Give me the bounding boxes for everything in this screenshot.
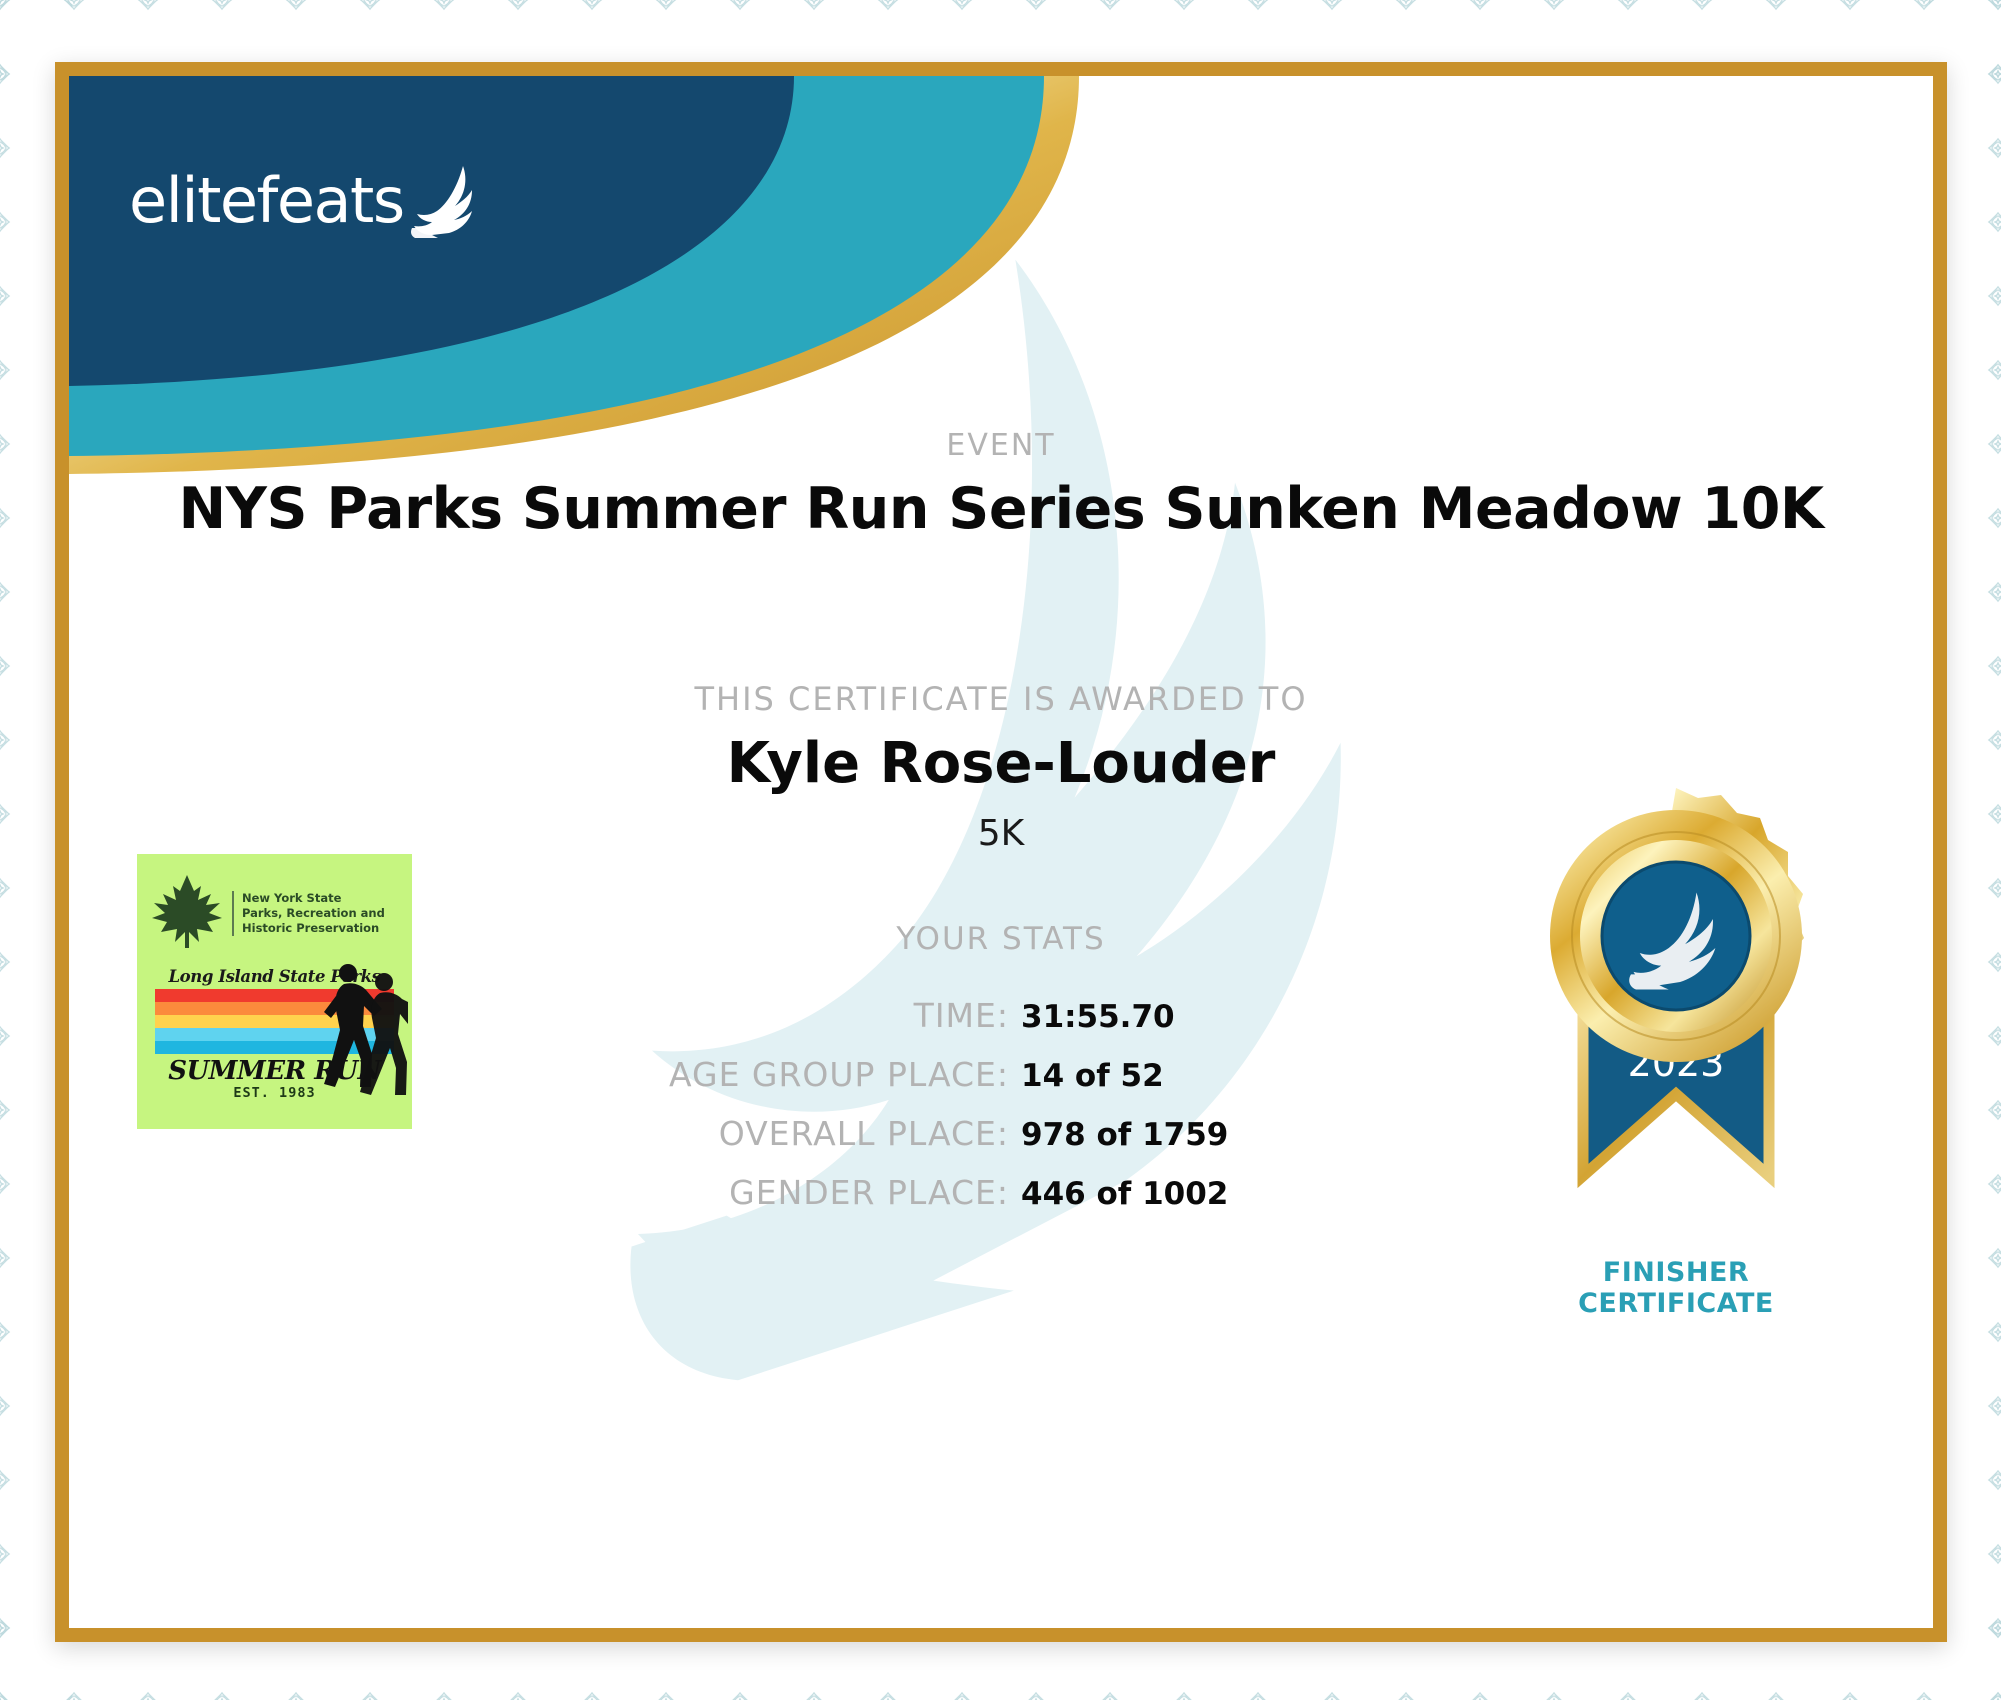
stat-key: AGE GROUP PLACE: bbox=[521, 1055, 1021, 1094]
stat-value: 31:55.70 bbox=[1021, 999, 1481, 1035]
finisher-caption-line-2: CERTIFICATE bbox=[1511, 1288, 1841, 1319]
agency-line-1: New York State bbox=[242, 891, 385, 906]
stat-key: GENDER PLACE: bbox=[521, 1173, 1021, 1212]
event-title: NYS Parks Summer Run Series Sunken Meado… bbox=[69, 476, 1933, 542]
runners-silhouette-icon bbox=[322, 956, 408, 1111]
finisher-caption: FINISHER CERTIFICATE bbox=[1511, 1257, 1841, 1319]
stat-key: OVERALL PLACE: bbox=[521, 1114, 1021, 1153]
finisher-medal: 2023 bbox=[1511, 776, 1841, 1319]
long-island-state-parks-logo: New York State Parks, Recreation and His… bbox=[137, 854, 412, 1129]
finisher-caption-line-1: FINISHER bbox=[1511, 1257, 1841, 1288]
agency-name: New York State Parks, Recreation and His… bbox=[232, 891, 385, 937]
stat-value: 446 of 1002 bbox=[1021, 1176, 1481, 1212]
certificate-frame: elitefeats EVENT NYS bbox=[55, 62, 1947, 1642]
brand-wordmark: elitefeats bbox=[129, 164, 404, 237]
stat-key: TIME: bbox=[521, 996, 1021, 1035]
agency-line-2: Parks, Recreation and bbox=[242, 906, 385, 921]
event-label: EVENT bbox=[69, 428, 1933, 463]
agency-line-3: Historic Preservation bbox=[242, 921, 385, 936]
maple-leaf-icon bbox=[151, 872, 223, 955]
awarded-to-label: THIS CERTIFICATE IS AWARDED TO bbox=[69, 680, 1933, 718]
winged-foot-icon bbox=[402, 164, 488, 247]
stat-value: 978 of 1759 bbox=[1021, 1117, 1481, 1153]
elitefeats-logo: elitefeats bbox=[129, 154, 488, 247]
medal-graphic: 2023 bbox=[1511, 776, 1841, 1246]
stat-value: 14 of 52 bbox=[1021, 1058, 1481, 1094]
